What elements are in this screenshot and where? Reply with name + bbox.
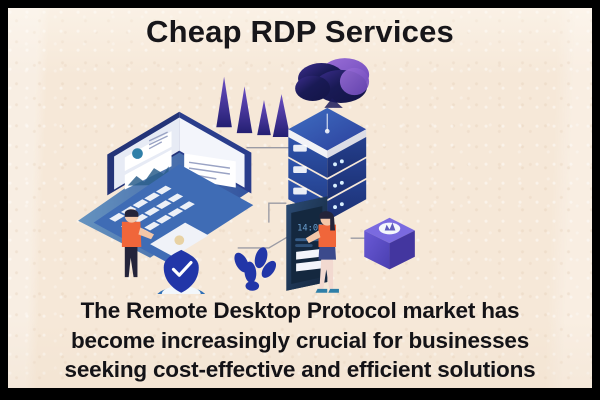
laptop — [78, 112, 253, 262]
body-line-1: The Remote Desktop Protocol market has — [12, 296, 588, 325]
data-cube-icon — [364, 218, 415, 270]
page-title: Cheap RDP Services — [8, 14, 592, 50]
body-line-2: become increasingly crucial for business… — [12, 326, 588, 355]
cloud-icon — [295, 58, 369, 108]
illustration-svg: 14:03 — [8, 54, 592, 294]
body-copy: The Remote Desktop Protocol market has b… — [8, 296, 592, 384]
image-canvas: Cheap RDP Services — [8, 8, 592, 388]
plant-icon — [231, 246, 278, 291]
body-line-3: seeking cost-effective and efficient sol… — [12, 355, 588, 384]
illustration: 14:03 — [8, 54, 592, 294]
image-frame: Cheap RDP Services — [0, 0, 600, 400]
pine-trees — [216, 77, 290, 137]
